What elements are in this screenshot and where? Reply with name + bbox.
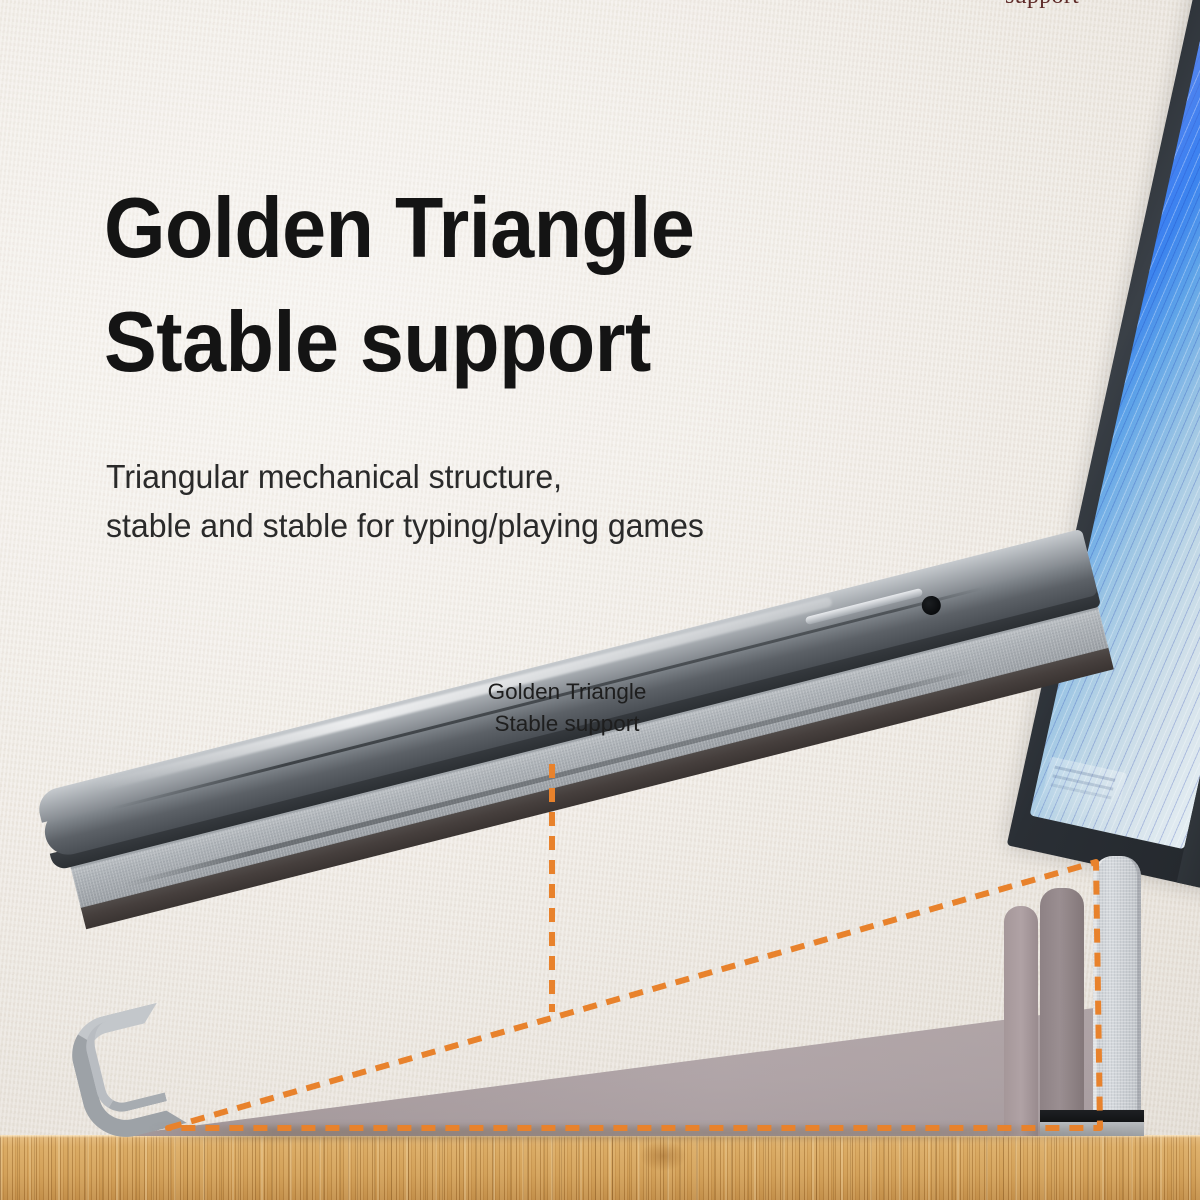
stand-leg-rim <box>1093 856 1141 1136</box>
stand-leg-inner-back <box>1004 906 1038 1136</box>
page-title: Golden Triangle Stable support <box>104 172 811 400</box>
callout-label: Golden Triangle Stable support <box>452 676 682 740</box>
product-marketing-image: support Golden Triangle Stable support T… <box>0 0 1200 1200</box>
desk-grain-fine <box>0 1135 1200 1200</box>
desk-knot <box>640 1141 686 1171</box>
stand-leg-outer <box>1093 856 1141 1136</box>
bamboo-desk <box>0 1135 1200 1200</box>
stand-contact-shadow <box>150 1126 1160 1140</box>
stand-leg-inner <box>1040 888 1084 1136</box>
subtitle: Triangular mechanical structure, stable … <box>106 452 940 550</box>
clipped-top-text: support <box>1005 0 1079 10</box>
